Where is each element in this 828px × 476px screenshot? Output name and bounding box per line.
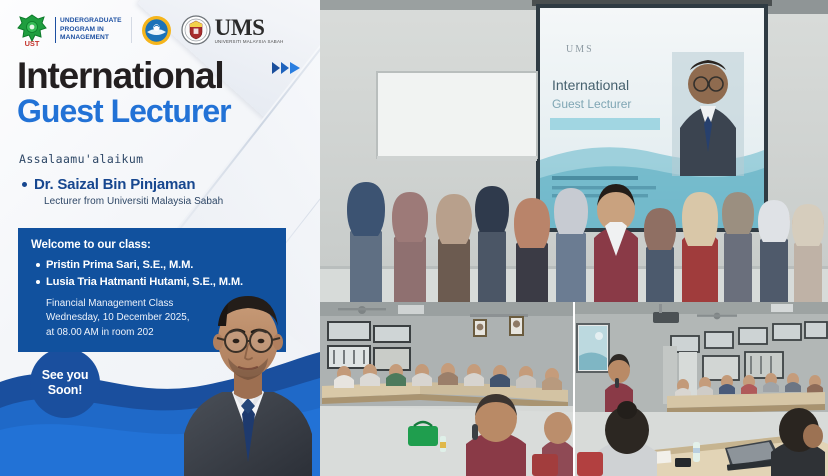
ust-crest-icon: UST [14,12,50,48]
title-line-international: International [17,58,231,94]
lecturer-presenting [575,302,828,476]
ust-label-line3: MANAGEMENT [60,34,122,43]
poster-root: UST UNDERGRADUATE PROGRAM IN MANAGEMENT [0,0,828,476]
bullet-icon [36,263,40,267]
ums-full-name: UNIVERSITI MALAYSIA SABAH [215,40,284,44]
ums-acronym: UMS [215,16,284,39]
ums-crest-icon [181,15,211,45]
logo-divider [131,17,132,43]
page-title: International Guest Lecturer [17,58,231,129]
seminar-room-audience [320,302,573,476]
bullet-icon [36,280,40,284]
svg-text:International: International [552,77,629,93]
ust-logo: UST UNDERGRADUATE PROGRAM IN MANAGEMENT [14,12,122,48]
svg-text:UST: UST [25,39,40,48]
speaker-portrait-photo [176,266,320,476]
title-line-guest-lecturer: Guest Lecturer [17,95,231,129]
host-name: Pristin Prima Sari, S.E., M.M. [46,257,193,274]
sinta-badge-icon [141,15,172,46]
left-info-panel: UST UNDERGRADUATE PROGRAM IN MANAGEMENT [0,0,320,476]
ust-label-line1: UNDERGRADUATE [60,17,122,26]
svg-text:UMS: UMS [566,44,594,55]
svg-text:Guest Lecturer: Guest Lecturer [552,97,631,111]
ust-logo-label: UNDERGRADUATE PROGRAM IN MANAGEMENT [55,17,122,43]
speaker-name: Dr. Saizal Bin Pinjaman [34,176,195,193]
speaker-block: Dr. Saizal Bin Pinjaman Lecturer from Un… [22,176,223,207]
speaker-affiliation: Lecturer from Universiti Malaysia Sabah [44,196,223,207]
see-you-soon-badge: See you Soon! [30,348,100,418]
speaker-name-row: Dr. Saizal Bin Pinjaman [22,176,223,193]
bullet-icon [22,182,27,187]
bottom-photo-row [320,302,828,476]
ums-logo: UMS UNIVERSITI MALAYSIA SABAH [181,15,284,45]
greeting-text: Assalaamu'alaikum [19,152,144,166]
logo-row: UST UNDERGRADUATE PROGRAM IN MANAGEMENT [14,12,283,48]
group-photo-classroom: UMS International Guest Lecturer [320,0,828,302]
info-card-heading: Welcome to our class: [31,239,273,251]
triple-arrow-right-icon [272,62,300,74]
badge-line2: Soon! [42,383,89,398]
ust-label-line2: PROGRAM IN [60,26,122,35]
photo-collage: UMS International Guest Lecturer [320,0,828,476]
ums-text-block: UMS UNIVERSITI MALAYSIA SABAH [215,16,284,45]
badge-line1: See you [42,368,89,383]
